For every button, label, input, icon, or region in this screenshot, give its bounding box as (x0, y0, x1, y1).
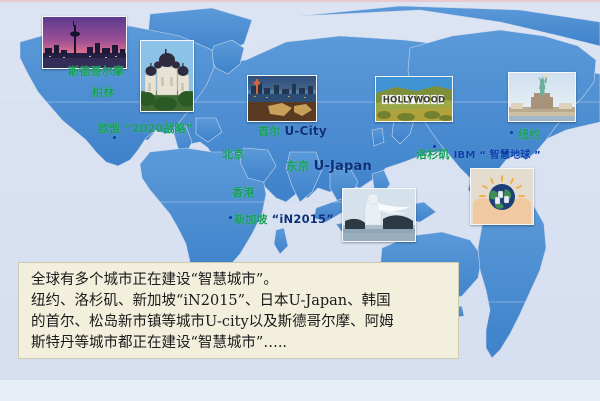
marker-dot-newyork (510, 131, 513, 134)
photo-hollywood-sign: HOLLYWOOD (375, 76, 453, 122)
map-label-seoul-cn: 首尔 (258, 125, 280, 138)
map-label-singapore: 新加坡 “iN2015” (234, 211, 334, 227)
map-label-seoul: 首尔 U-City (258, 123, 327, 139)
map-label-berlin-cn: 柏林 (92, 86, 114, 99)
map-label-seoul-en: U-City (284, 124, 326, 138)
photo-smarter-planet (470, 168, 534, 225)
bottom-band (0, 380, 600, 401)
map-label-tokyo-en: U-Japan (314, 159, 372, 174)
map-label-singapore-cn: 新加坡 (234, 213, 268, 226)
map-label-beijing: 北京 (222, 146, 244, 162)
map-label-beijing-cn: 北京 (222, 148, 244, 161)
map-label-hongkong: 香港 (232, 184, 254, 200)
map-label-singapore-en: “iN2015” (272, 212, 334, 226)
caption-line-4: 斯特丹等城市都正在建设“智慧城市”….. (31, 333, 448, 354)
photo-harbor-city (247, 75, 317, 122)
map-label-losangeles-cn: 洛杉矶 (416, 148, 450, 161)
caption-line-1: 全球有多个城市正在建设“智慧城市”。 (31, 270, 448, 291)
map-label-losangeles-en: IBM “ 智慧地球 ” (454, 150, 541, 161)
map-label-tokyo: 东京 U-Japan (286, 158, 372, 174)
map-label-newyork: 纽约 (518, 126, 540, 142)
marker-dot-eu (113, 136, 116, 139)
marker-dot-singapore (229, 216, 232, 219)
map-label-eu2020-cn: 欧盟 (98, 122, 120, 135)
map-label-losangeles: 洛杉矶 IBM “ 智慧地球 ” (416, 146, 541, 162)
photo-statue-of-liberty (508, 72, 576, 122)
hollywood-sign-text: HOLLYWOOD (383, 96, 445, 106)
photo-cathedral (140, 40, 194, 112)
map-label-stockholm-cn: 斯德哥尔摩 (68, 65, 124, 78)
map-label-stockholm: 斯德哥尔摩 (68, 63, 124, 79)
caption-line-2: 纽约、洛杉矶、新加坡“iN2015”、日本U-Japan、韩国 (31, 291, 448, 312)
caption-line-3: 的首尔、松岛新市镇等城市U-city以及斯德哥尔摩、阿姆 (31, 312, 448, 333)
photo-merlion (342, 188, 416, 242)
map-label-tokyo-cn: 东京 (286, 159, 309, 173)
map-label-eu2020-en: “2020战略” (124, 122, 193, 135)
map-label-hongkong-cn: 香港 (232, 186, 254, 199)
map-label-newyork-cn: 纽约 (518, 128, 540, 141)
caption-box: 全球有多个城市正在建设“智慧城市”。 纽约、洛杉矶、新加坡“iN2015”、日本… (18, 262, 459, 359)
map-label-eu2020: 欧盟 “2020战略” (98, 120, 193, 136)
map-label-berlin: 柏林 (92, 84, 114, 100)
slide-canvas: HOLLYWOOD (0, 0, 600, 401)
photo-stockholm-skyline (42, 16, 127, 69)
